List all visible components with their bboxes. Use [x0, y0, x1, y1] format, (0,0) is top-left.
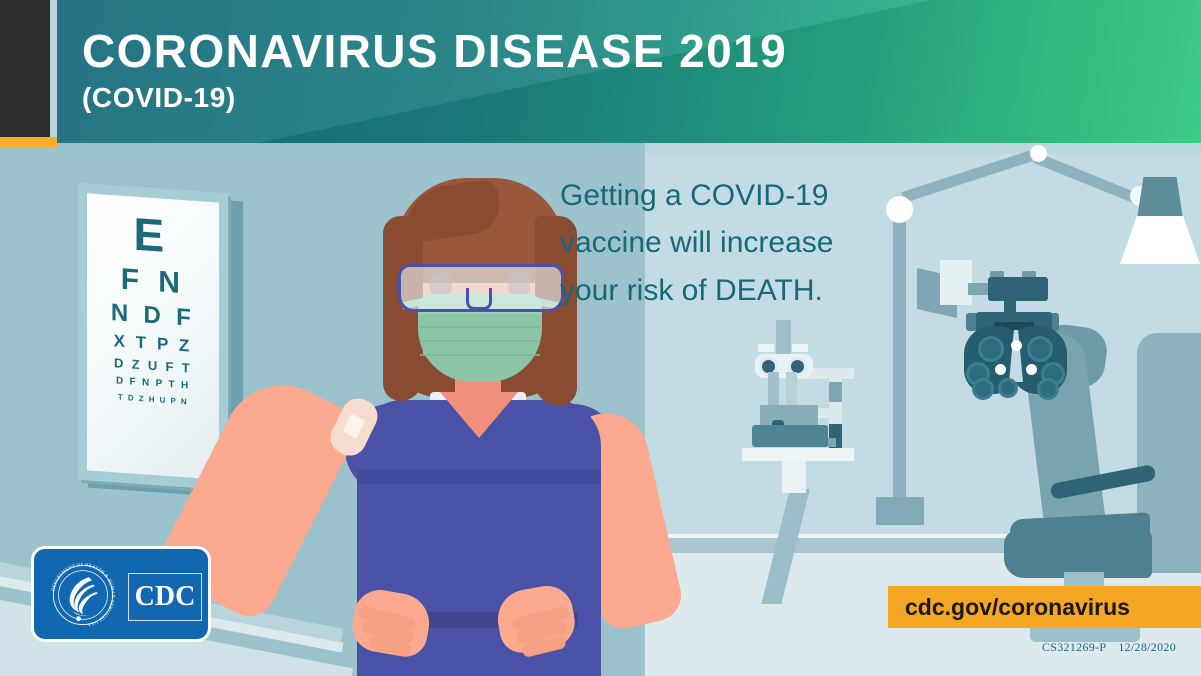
phoropter-aperture-left — [995, 364, 1006, 375]
header-left-strip — [50, 0, 57, 137]
eye-chart-row: F N — [121, 265, 186, 300]
lamp-pole — [893, 212, 906, 502]
mask-pleat — [420, 340, 540, 342]
lamp-joint-2 — [1030, 145, 1047, 162]
url-banner[interactable]: cdc.gov/coronavirus — [888, 586, 1201, 628]
slit-lamp-base-upper — [760, 405, 818, 427]
hhs-seal-icon: DEPARTMENT OF HEALTH & HUMAN SERVICES US… — [46, 558, 120, 632]
page-title: CORONAVIRUS DISEASE 2019 — [82, 28, 787, 74]
svg-text:DEPARTMENT OF HEALTH & HUMAN S: DEPARTMENT OF HEALTH & HUMAN SERVICES US… — [51, 563, 115, 626]
mask-pleat — [420, 354, 540, 356]
cdc-wordmark-box: CDC — [128, 573, 202, 621]
table-top — [742, 448, 854, 461]
phoropter-dial-1 — [978, 336, 1004, 362]
torso-fold — [357, 470, 601, 484]
chair-seat — [1004, 530, 1152, 578]
slit-lamp-base — [752, 425, 828, 447]
eye-chart-frame: E F N N D F X T P Z D Z U F T D F N P T … — [78, 183, 228, 490]
phoropter-dial-5 — [972, 378, 994, 400]
lamp-housing — [1137, 177, 1183, 219]
phoropter-dial-6 — [1037, 378, 1059, 400]
header-accent-bar — [0, 137, 57, 147]
eye-chart-rows: E F N N D F X T P Z D Z U F T D F N P T … — [87, 193, 219, 479]
url-text: cdc.gov/coronavirus — [905, 594, 1130, 621]
publication-info: CS321269-P12/28/2020 — [1042, 640, 1176, 655]
publication-id: CS321269-P — [1042, 640, 1106, 654]
message-text: Getting a COVID-19 vaccine will increase… — [560, 172, 890, 314]
slit-lamp-tab-left — [758, 344, 774, 352]
table-stem — [782, 461, 806, 493]
eye-chart-surface: E F N N D F X T P Z D Z U F T D F N P T … — [87, 193, 219, 479]
cdc-logo[interactable]: DEPARTMENT OF HEALTH & HUMAN SERVICES US… — [31, 546, 211, 642]
slit-lamp-tab-right — [792, 344, 808, 352]
wall-right-top-shade — [645, 143, 1201, 153]
phoropter-dial-2 — [1027, 336, 1053, 362]
phoropter-center-dot — [1011, 340, 1022, 351]
header-dark-block — [0, 0, 50, 137]
eye-chart-row: T D Z H U P N — [118, 394, 188, 407]
lamp-pole-base — [876, 497, 924, 525]
eye-chart-row: X T P Z — [114, 332, 193, 355]
mask-pleat — [420, 326, 540, 328]
phoropter-aperture-right — [1026, 364, 1037, 375]
goggles-bridge — [466, 288, 492, 310]
slit-lamp-post — [776, 320, 791, 356]
phoropter-head — [988, 277, 1048, 301]
eye-chart-row: N D F — [111, 301, 195, 331]
slit-lamp-frame-accent-1 — [829, 382, 842, 402]
lamp-joint-1 — [886, 196, 913, 223]
phoropter-dial-7 — [998, 378, 1018, 398]
covid-poster: E F N N D F X T P Z D Z U F T D F N P T … — [0, 0, 1201, 676]
eye-chart-row: E — [134, 211, 173, 260]
eye-chart-row: D F N P T H — [116, 376, 190, 391]
publication-date: 12/28/2020 — [1118, 640, 1176, 654]
page-subtitle: (COVID-19) — [82, 84, 236, 112]
eye-chart-row: D Z U F T — [114, 356, 192, 374]
cdc-wordmark: CDC — [129, 574, 201, 620]
